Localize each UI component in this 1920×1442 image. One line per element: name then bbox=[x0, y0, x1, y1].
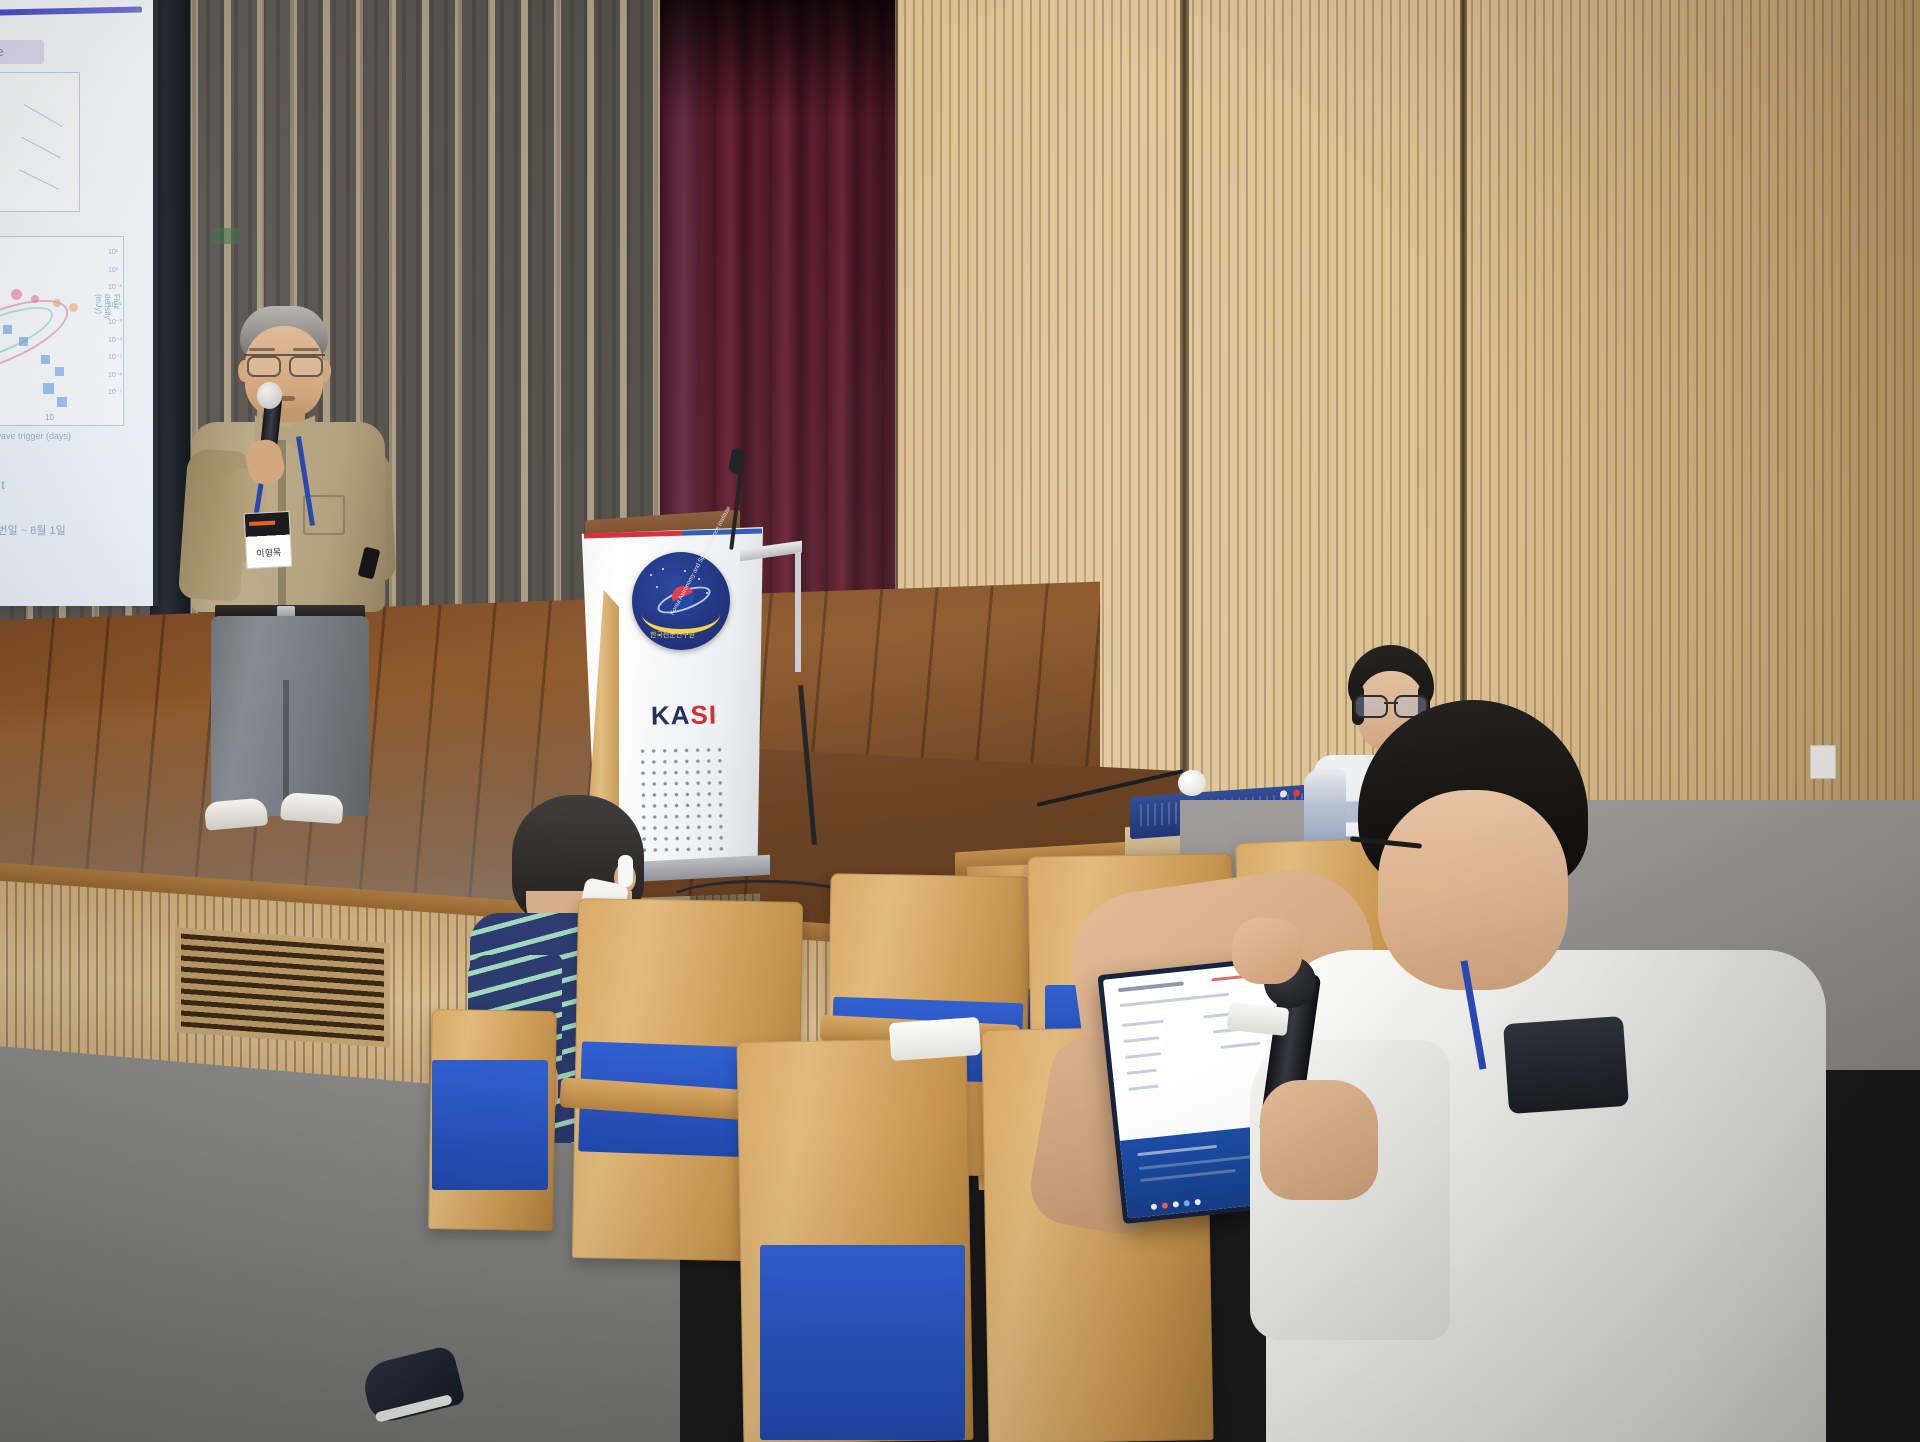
stage-curtain-top-shadow bbox=[660, 0, 895, 120]
black-bag[interactable] bbox=[1503, 1016, 1629, 1114]
podium-side-shelf-leg bbox=[795, 552, 801, 672]
slide-footer-net: Net bbox=[0, 478, 6, 492]
kasi-yellow-arc bbox=[642, 594, 720, 634]
kasi-wordmark: KASI bbox=[641, 699, 728, 731]
foreground-person-hand bbox=[1260, 1080, 1378, 1200]
foreground-person-hand-upper bbox=[1232, 918, 1302, 984]
slide-title-text: ure bbox=[0, 44, 64, 59]
slide-x-axis-label: vitational-wave trigger (days) bbox=[0, 431, 71, 441]
auditorium-photo-scene: ure o wind 10 10¹10⁰1 bbox=[0, 0, 1920, 1442]
slide-footer-date: 7월 2번일 ~ 8월 1일 bbox=[0, 522, 66, 538]
slide-y-axis-label: Flux density (mJy) bbox=[94, 294, 121, 326]
presenter-eyeglasses bbox=[245, 354, 325, 372]
auditorium-seat-cushion-front-2[interactable] bbox=[760, 1245, 965, 1440]
presenter-figure: 이형목 bbox=[185, 300, 415, 840]
foreground-person-face bbox=[1378, 790, 1568, 990]
kasi-emblem bbox=[632, 552, 730, 650]
white-paper-packet[interactable] bbox=[889, 1017, 981, 1061]
microphone-windscreen bbox=[1178, 770, 1206, 796]
presenter-trousers bbox=[211, 616, 369, 816]
slide-y-tick-labels: 10¹10⁰10⁻¹10⁻²10⁻³ 10⁻⁴10⁻⁵10⁻⁶10⁻⁷ bbox=[108, 244, 130, 424]
auditorium-seat-cushion-front-0[interactable] bbox=[432, 1060, 548, 1190]
slide-plot-upper bbox=[0, 72, 80, 212]
exit-sign-icon bbox=[212, 228, 238, 244]
presenter-brow-left bbox=[249, 348, 275, 351]
presenter-badge-name: 이형목 bbox=[246, 545, 291, 560]
earbud-icon bbox=[618, 855, 633, 887]
presenter-badge-band bbox=[249, 521, 275, 526]
presenter-name-badge: 이형목 bbox=[244, 511, 293, 569]
kasi-wordmark-ka: KA bbox=[651, 700, 691, 731]
projection-screen: ure o wind 10 10¹10⁰1 bbox=[0, 0, 158, 606]
presenter-brow-right bbox=[293, 348, 319, 351]
tablet-footer-dots bbox=[1151, 1199, 1201, 1210]
kasi-wordmark-si: SI bbox=[690, 699, 717, 729]
slide-plot-lower: o wind 10 bbox=[0, 236, 124, 426]
slide-x-tick: 10 bbox=[45, 413, 54, 422]
presenter-shoe-right bbox=[280, 792, 344, 824]
floor-vent-grille bbox=[175, 927, 390, 1048]
presenter-shoe-left bbox=[204, 797, 268, 830]
